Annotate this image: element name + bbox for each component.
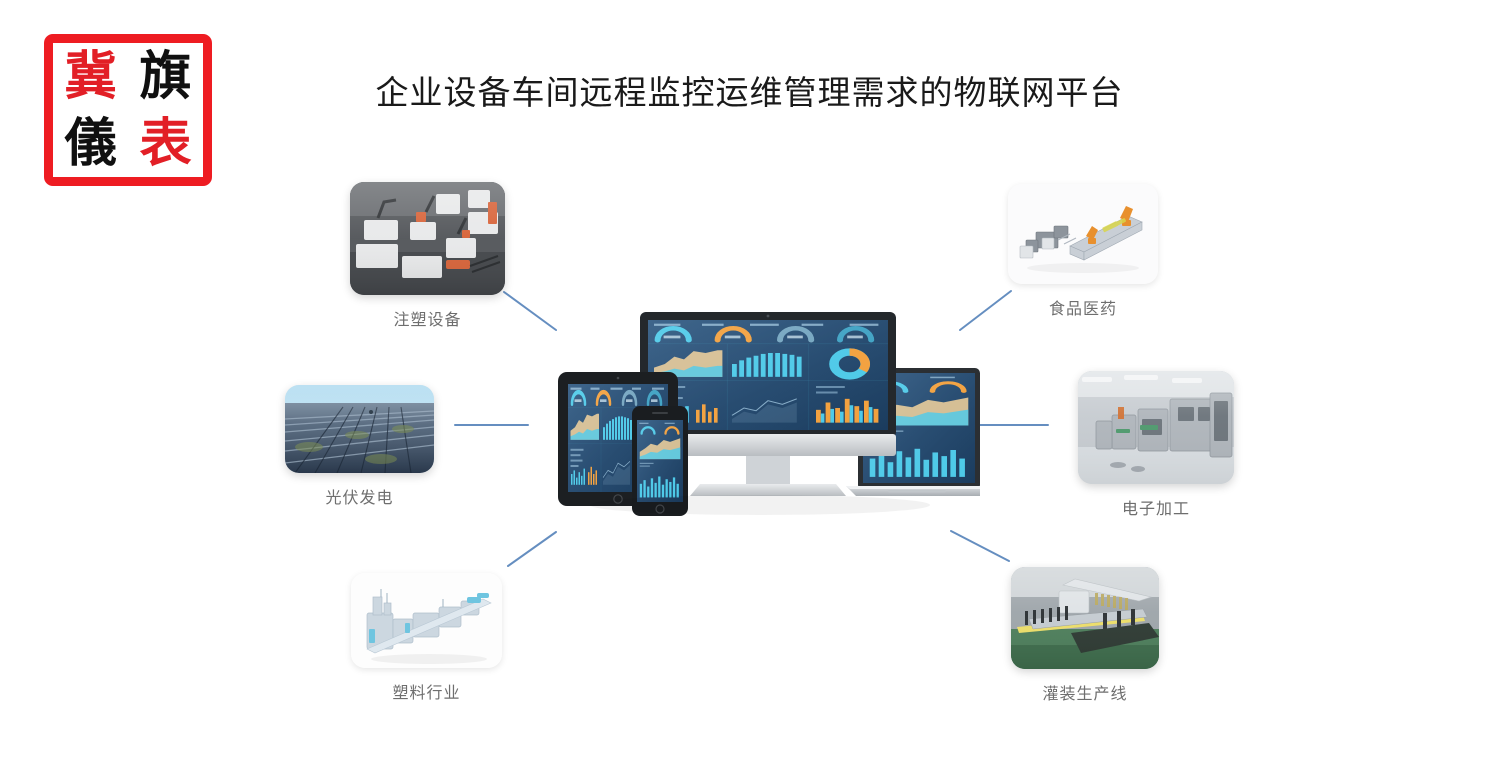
logo-char-4: 表 bbox=[139, 118, 191, 170]
injection-molding-thumbnail bbox=[350, 182, 505, 295]
plastics-industry-thumbnail bbox=[351, 573, 502, 668]
node-photovoltaic[interactable]: 光伏发电 bbox=[285, 385, 434, 508]
node-label-photovoltaic: 光伏发电 bbox=[285, 484, 434, 508]
photovoltaic-thumbnail bbox=[285, 385, 434, 473]
page-title: 企业设备车间远程监控运维管理需求的物联网平台 bbox=[0, 66, 1499, 114]
food-pharma-thumbnail bbox=[1008, 184, 1158, 284]
node-label-food-pharma: 食品医药 bbox=[1008, 295, 1158, 319]
node-filling-line[interactable]: 灌装生产线 bbox=[1011, 567, 1159, 704]
connector-bottom-left bbox=[508, 532, 556, 566]
node-label-injection-molding: 注塑设备 bbox=[350, 306, 505, 330]
node-food-pharma[interactable]: 食品医药 bbox=[1008, 184, 1158, 319]
device-cluster bbox=[540, 300, 980, 520]
node-label-filling-line: 灌装生产线 bbox=[1011, 680, 1159, 704]
node-electronics-processing[interactable]: 电子加工 bbox=[1078, 371, 1234, 519]
node-injection-molding[interactable]: 注塑设备 bbox=[350, 182, 505, 330]
node-label-electronics-processing: 电子加工 bbox=[1078, 495, 1234, 519]
connector-bottom-right bbox=[951, 531, 1009, 561]
node-label-plastics-industry: 塑料行业 bbox=[351, 679, 502, 703]
slide-canvas: 冀 旗 儀 表 企业设备车间远程监控运维管理需求的物联网平台 bbox=[0, 0, 1499, 759]
filling-line-thumbnail bbox=[1011, 567, 1159, 669]
node-plastics-industry[interactable]: 塑料行业 bbox=[351, 573, 502, 703]
logo-char-3: 儀 bbox=[64, 118, 116, 170]
electronics-processing-thumbnail bbox=[1078, 371, 1234, 484]
